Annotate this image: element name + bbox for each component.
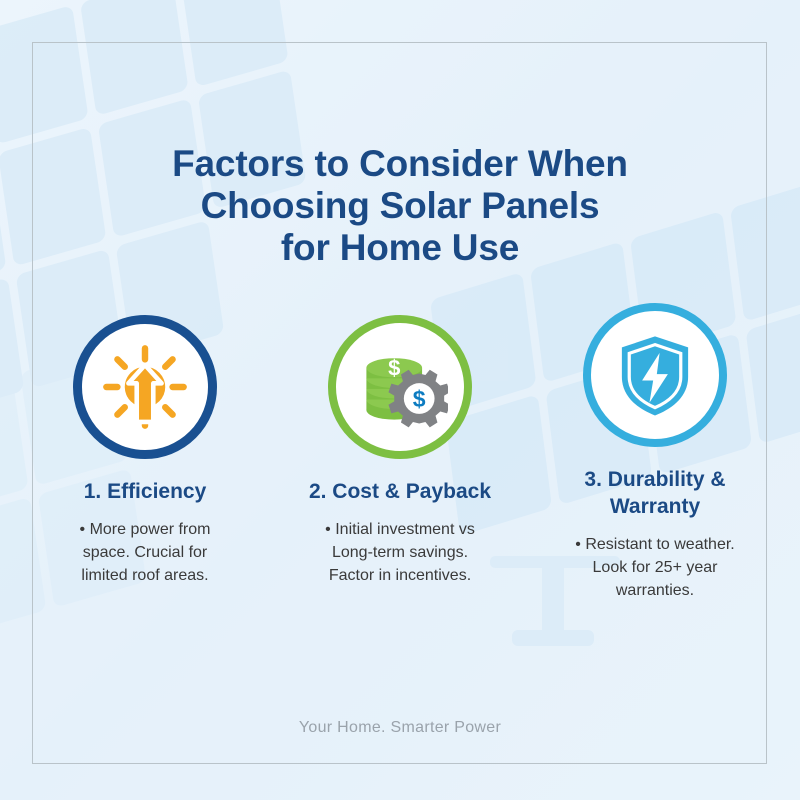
factors-list: 1. Efficiency • More power from space. C… — [30, 315, 770, 602]
coin-dollar-sign-icon: $ — [388, 355, 400, 380]
factor-body-durability-warranty: • Resistant to weather. Look for 25+ yea… — [553, 533, 758, 602]
sun-arrow-icon — [99, 341, 191, 433]
bullet-marker: • — [325, 521, 331, 538]
factor-title-line-2: Warranty — [610, 495, 700, 518]
bullet-marker: • — [575, 536, 581, 553]
factor-title-line-1: 3. Durability & — [584, 468, 725, 491]
factor-body-line-2: Long-term savings. — [332, 544, 468, 561]
factor-card-efficiency: 1. Efficiency • More power from space. C… — [30, 315, 260, 587]
infographic-poster: Factors to Consider When Choosing Solar … — [0, 0, 800, 800]
factor-icon-badge-cost-payback: $ $ — [328, 315, 472, 459]
factor-body-line-3: warranties. — [616, 582, 694, 599]
factor-body-efficiency: • More power from space. Crucial for lim… — [43, 518, 248, 587]
footer-tagline: Your Home. Smarter Power — [0, 719, 800, 737]
page-title-line-3: for Home Use — [80, 227, 720, 269]
factor-title-cost-payback: 2. Cost & Payback — [293, 478, 508, 505]
factor-card-durability-warranty: 3. Durability & Warranty • Resistant to … — [540, 315, 770, 602]
factor-body-line-3: limited roof areas. — [81, 567, 208, 584]
coins-gear-icon: $ $ — [352, 339, 448, 435]
factor-body-line-2: Look for 25+ year — [593, 559, 718, 576]
factor-body-line-3: Factor in incentives. — [329, 567, 471, 584]
shield-bolt-icon — [609, 329, 701, 421]
page-title-line-2: Choosing Solar Panels — [80, 185, 720, 227]
factor-title-durability-warranty: 3. Durability & Warranty — [548, 466, 763, 520]
gear-dollar-sign-icon: $ — [413, 386, 426, 412]
bullet-marker: • — [80, 521, 86, 538]
page-title-line-1: Factors to Consider When — [80, 143, 720, 185]
factor-icon-badge-durability-warranty — [583, 303, 727, 447]
factor-card-cost-payback: $ $ 2. Cost & Payback • Initial investme… — [285, 315, 515, 587]
factor-body-line-1: More power from — [90, 521, 211, 538]
factor-body-line-1: Initial investment vs — [335, 521, 475, 538]
factor-body-line-2: space. Crucial for — [83, 544, 208, 561]
factor-body-cost-payback: • Initial investment vs Long-term saving… — [298, 518, 503, 587]
factor-title-efficiency: 1. Efficiency — [38, 478, 253, 505]
factor-body-line-1: Resistant to weather. — [585, 536, 734, 553]
factor-icon-badge-efficiency — [73, 315, 217, 459]
page-title: Factors to Consider When Choosing Solar … — [80, 143, 720, 269]
